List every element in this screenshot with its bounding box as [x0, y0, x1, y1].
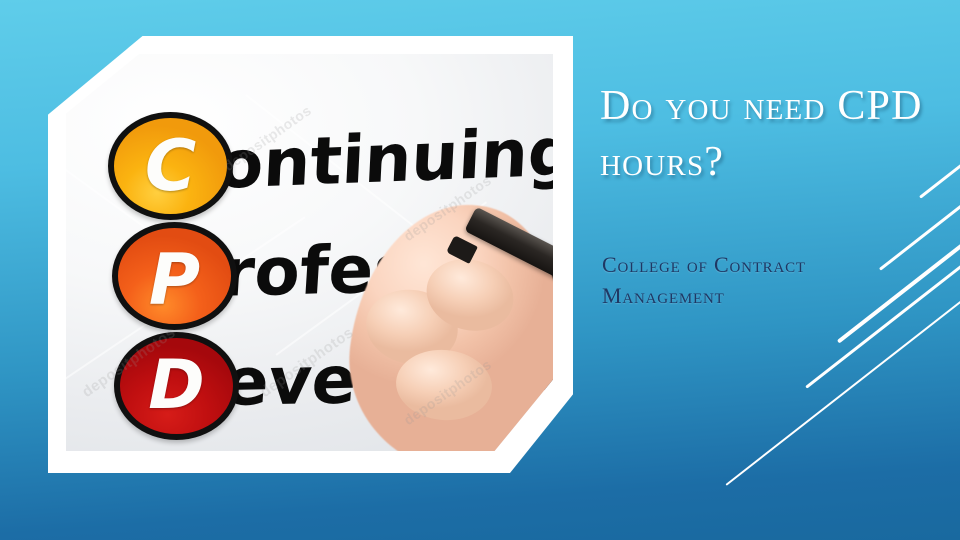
presentation-slide: ontinuing rofessiona evelopment C P D de… [0, 0, 960, 540]
cpd-whiteboard-photo: ontinuing rofessiona evelopment C P D de… [66, 54, 553, 451]
streak-line-5 [725, 281, 960, 485]
letter-blob-c-label: C [145, 131, 196, 201]
letter-blob-c: C [108, 112, 233, 220]
handwritten-word-continuing: ontinuing [217, 119, 553, 199]
letter-blob-p-label: P [149, 245, 200, 315]
slide-subtitle: College of Contract Management [602, 249, 902, 311]
slide-title: Do you need CPD hours? [600, 78, 940, 191]
letter-blob-d: D [114, 332, 239, 440]
letter-blob-p: P [112, 222, 237, 330]
letter-blob-d-label: D [148, 352, 204, 420]
cpd-photo-frame: ontinuing rofessiona evelopment C P D de… [48, 36, 573, 473]
